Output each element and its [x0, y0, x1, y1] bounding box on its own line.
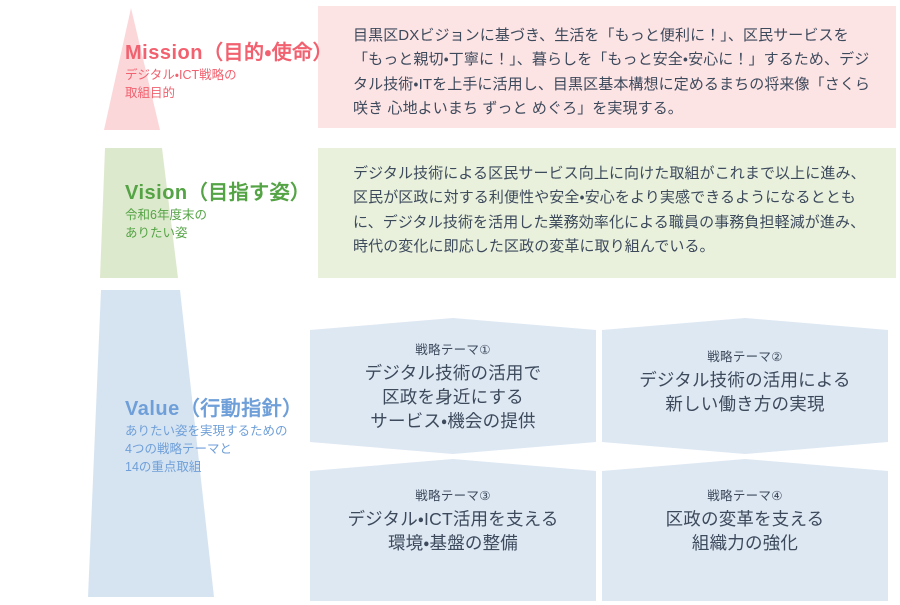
value-title: Value（行動指針） — [125, 398, 355, 421]
strategic-theme-box-2[interactable]: 戦略テーマ② デジタル技術の活用による 新しい働き方の実現 — [602, 318, 888, 454]
mission-subtitle: デジタル・ICT戦略の 取組目的 — [125, 67, 355, 103]
vision-content-panel: デジタル技術による区民サービス向上に向けた取組がこれまで以上に進み、区民が区政に… — [318, 148, 896, 278]
mission-body-text: 目黒区DXビジョンに基づき、生活を「もっと便利に！」、区民サービスを「もっと親切… — [318, 6, 896, 121]
theme-1-number: 戦略テーマ① — [415, 339, 491, 358]
mission-content-panel: 目黒区DXビジョンに基づき、生活を「もっと便利に！」、区民サービスを「もっと親切… — [318, 6, 896, 128]
vision-title: Vision（目指す姿） — [125, 182, 355, 205]
theme-4-title: 区政の変革を支える 組織力の強化 — [666, 507, 825, 555]
vision-body-text: デジタル技術による区民サービス向上に向けた取組がこれまで以上に進み、区民が区政に… — [318, 148, 896, 259]
strategic-themes-group: 戦略テーマ① デジタル技術の活用で 区政を身近にする サービス・機会の提供 戦略… — [310, 318, 900, 601]
tier-label-value: Value（行動指針） ありたい姿を実現するための 4つの戦略テーマと 14の重… — [125, 398, 355, 476]
strategic-theme-box-4[interactable]: 戦略テーマ④ 区政の変革を支える 組織力の強化 — [602, 459, 888, 601]
value-subtitle: ありたい姿を実現するための 4つの戦略テーマと 14の重点取組 — [125, 423, 355, 476]
theme-3-title: デジタル・ICT活用を支える 環境・基盤の整備 — [347, 507, 558, 555]
mission-title: Mission（目的・使命） — [125, 42, 355, 65]
theme-4-number: 戦略テーマ④ — [707, 485, 783, 504]
theme-1-title: デジタル技術の活用で 区政を身近にする サービス・機会の提供 — [365, 361, 542, 433]
strategic-theme-box-3[interactable]: 戦略テーマ③ デジタル・ICT活用を支える 環境・基盤の整備 — [310, 459, 596, 601]
theme-2-number: 戦略テーマ② — [707, 346, 783, 365]
theme-3-number: 戦略テーマ③ — [415, 485, 491, 504]
tier-label-vision: Vision（目指す姿） 令和6年度末の ありたい姿 — [125, 182, 355, 243]
diagram-canvas: Mission（目的・使命） デジタル・ICT戦略の 取組目的 Vision（目… — [0, 0, 900, 605]
vision-subtitle: 令和6年度末の ありたい姿 — [125, 207, 355, 243]
tier-label-mission: Mission（目的・使命） デジタル・ICT戦略の 取組目的 — [125, 42, 355, 103]
theme-2-title: デジタル技術の活用による 新しい働き方の実現 — [639, 368, 851, 416]
